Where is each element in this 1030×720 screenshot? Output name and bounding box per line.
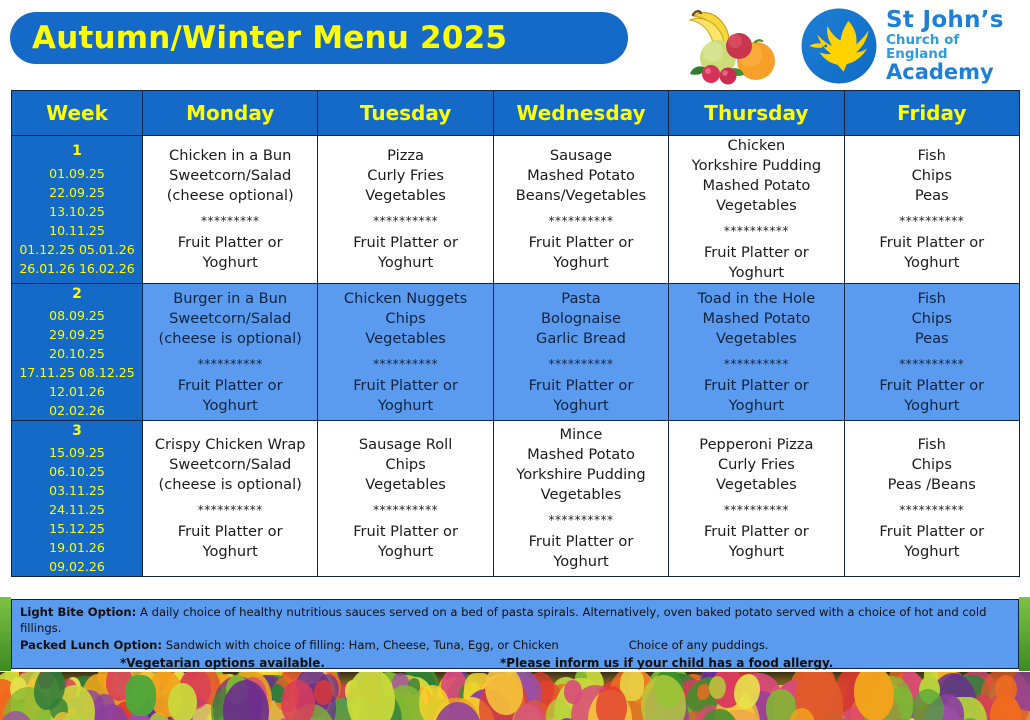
meal-cell: PastaBolognaiseGarlic Bread**********Fru… xyxy=(493,283,668,420)
dish-line: Chicken xyxy=(669,136,843,156)
week-date: 13.10.25 xyxy=(12,202,142,221)
dessert-line: Fruit Platter or xyxy=(494,233,668,253)
week-date: 06.10.25 xyxy=(12,462,142,481)
week-date: 01.12.25 05.01.26 xyxy=(12,240,142,259)
week-number: 1 xyxy=(12,141,142,162)
dish-line: Yorkshire Pudding xyxy=(669,156,843,176)
week-date: 10.11.25 xyxy=(12,221,142,240)
week-cell: 315.09.2506.10.2503.11.2524.11.2515.12.2… xyxy=(12,421,143,577)
separator-stars: ********** xyxy=(669,504,843,516)
fruit-vegetable-border-image xyxy=(0,672,1030,720)
dessert-line: Fruit Platter or xyxy=(669,522,843,542)
dish-line: Vegetables xyxy=(318,475,492,495)
packed-lunch-note: Packed Lunch Option: Sandwich with choic… xyxy=(20,637,1010,653)
dish-line: Chicken Nuggets xyxy=(318,289,492,309)
week-number: 3 xyxy=(12,421,142,442)
dessert-line: Fruit Platter or xyxy=(845,522,1019,542)
dish-line: Vegetables xyxy=(669,196,843,216)
meal-cell: Toad in the HoleMashed PotatoVegetables*… xyxy=(669,283,844,420)
puddings-text: Choice of any puddings. xyxy=(629,638,769,652)
fruit-basket-icon xyxy=(676,6,786,86)
packed-lunch-label: Packed Lunch Option: xyxy=(20,638,162,652)
week-date: 19.01.26 xyxy=(12,538,142,557)
dessert-line: Yoghurt xyxy=(669,263,843,283)
dish-line: Beans/Vegetables xyxy=(494,186,668,206)
week-date: 22.09.25 xyxy=(12,183,142,202)
week-date: 08.09.25 xyxy=(12,306,142,325)
dish-line: Sausage Roll xyxy=(318,435,492,455)
dish-line: Vegetables xyxy=(669,329,843,349)
meal-cell: SausageMashed PotatoBeans/Vegetables****… xyxy=(493,136,668,284)
week-cell: 208.09.2529.09.2520.10.2517.11.25 08.12.… xyxy=(12,283,143,420)
meal-cell: ChickenYorkshire PuddingMashed PotatoVeg… xyxy=(669,136,844,284)
week-date: 26.01.26 16.02.26 xyxy=(12,259,142,278)
column-header-tuesday: Tuesday xyxy=(318,91,493,136)
dessert-line: Yoghurt xyxy=(845,253,1019,273)
dish-line: Chips xyxy=(845,309,1019,329)
separator-stars: ********** xyxy=(845,358,1019,370)
vegetarian-note: *Vegetarian options available. xyxy=(120,655,325,672)
meal-cell: MinceMashed PotatoYorkshire PuddingVeget… xyxy=(493,421,668,577)
dish-line: Chips xyxy=(318,455,492,475)
right-decor-strip xyxy=(1019,597,1030,671)
week-date: 15.12.25 xyxy=(12,519,142,538)
eagle-badge-icon xyxy=(800,7,878,85)
dessert-line: Yoghurt xyxy=(143,396,317,416)
dessert-line: Yoghurt xyxy=(143,253,317,273)
table-header-row: Week Monday Tuesday Wednesday Thursday F… xyxy=(12,91,1020,136)
separator-stars: ********** xyxy=(845,504,1019,516)
week-date: 29.09.25 xyxy=(12,325,142,344)
meal-cell: Pepperoni PizzaCurly FriesVegetables****… xyxy=(669,421,844,577)
dish-line: Mashed Potato xyxy=(494,445,668,465)
dish-line: Fish xyxy=(845,289,1019,309)
separator-stars: ********** xyxy=(669,225,843,237)
dessert-line: Fruit Platter or xyxy=(494,532,668,552)
dessert-line: Fruit Platter or xyxy=(143,522,317,542)
meal-cell: Burger in a BunSweetcorn/Salad(cheese is… xyxy=(143,283,318,420)
week-date: 20.10.25 xyxy=(12,344,142,363)
packed-lunch-text: Sandwich with choice of filling: Ham, Ch… xyxy=(162,638,559,652)
dessert-line: Yoghurt xyxy=(494,396,668,416)
separator-stars: ********** xyxy=(318,215,492,227)
week-date: 12.01.26 xyxy=(12,382,142,401)
dessert-line: Fruit Platter or xyxy=(845,233,1019,253)
dish-line: Fish xyxy=(845,435,1019,455)
column-header-wednesday: Wednesday xyxy=(493,91,668,136)
separator-stars: ********** xyxy=(669,358,843,370)
dessert-line: Yoghurt xyxy=(318,542,492,562)
dessert-line: Fruit Platter or xyxy=(494,376,668,396)
dish-line: Mince xyxy=(494,425,668,445)
dish-line: Mashed Potato xyxy=(669,309,843,329)
dish-line: Vegetables xyxy=(318,186,492,206)
allergy-note: *Please inform us if your child has a fo… xyxy=(500,655,833,672)
light-bite-label: Light Bite Option: xyxy=(20,605,136,619)
dessert-line: Yoghurt xyxy=(318,253,492,273)
dessert-line: Fruit Platter or xyxy=(318,376,492,396)
separator-stars: ********** xyxy=(318,504,492,516)
dish-line: Chips xyxy=(845,166,1019,186)
dish-line: Pepperoni Pizza xyxy=(669,435,843,455)
school-name-line-3: Academy xyxy=(886,61,1025,83)
dish-line: (cheese is optional) xyxy=(143,475,317,495)
dessert-line: Fruit Platter or xyxy=(845,376,1019,396)
dish-line: Bolognaise xyxy=(494,309,668,329)
week-date: 02.02.26 xyxy=(12,401,142,420)
dessert-line: Yoghurt xyxy=(669,396,843,416)
dish-line: Toad in the Hole xyxy=(669,289,843,309)
separator-stars: ********** xyxy=(494,358,668,370)
separator-stars: ********* xyxy=(143,215,317,227)
separator-stars: ********** xyxy=(494,514,668,526)
dish-line: Sweetcorn/Salad xyxy=(143,455,317,475)
week-date: 09.02.26 xyxy=(12,557,142,576)
school-logo: St John’s Church of England Academy xyxy=(800,5,1025,87)
dessert-line: Fruit Platter or xyxy=(318,233,492,253)
school-name: St John’s Church of England Academy xyxy=(886,8,1025,83)
week-date: 15.09.25 xyxy=(12,443,142,462)
meal-cell: FishChipsPeas**********Fruit Platter orY… xyxy=(844,283,1019,420)
dish-line: Sausage xyxy=(494,146,668,166)
dish-line: Sweetcorn/Salad xyxy=(143,166,317,186)
separator-stars: ********** xyxy=(318,358,492,370)
school-name-line-2: Church of England xyxy=(886,33,1025,62)
dish-line: Vegetables xyxy=(318,329,492,349)
dish-line: Pizza xyxy=(318,146,492,166)
dish-line: Curly Fries xyxy=(318,166,492,186)
dish-line: Mashed Potato xyxy=(669,176,843,196)
note-highlights: *Vegetarian options available. *Please i… xyxy=(20,653,1010,672)
dessert-line: Fruit Platter or xyxy=(143,376,317,396)
light-bite-note: Light Bite Option: A daily choice of hea… xyxy=(20,604,1010,637)
meal-cell: PizzaCurly FriesVegetables**********Frui… xyxy=(318,136,493,284)
separator-stars: ********** xyxy=(845,215,1019,227)
dish-line: Garlic Bread xyxy=(494,329,668,349)
dish-line: Peas /Beans xyxy=(845,475,1019,495)
dessert-line: Yoghurt xyxy=(143,542,317,562)
week-cell: 101.09.2522.09.2513.10.2510.11.2501.12.2… xyxy=(12,136,143,284)
dish-line: Chips xyxy=(845,455,1019,475)
dish-line: (cheese optional) xyxy=(143,186,317,206)
menu-table: Week Monday Tuesday Wednesday Thursday F… xyxy=(11,90,1020,577)
left-decor-strip xyxy=(0,597,11,671)
table-row: 315.09.2506.10.2503.11.2524.11.2515.12.2… xyxy=(12,421,1020,577)
dish-line: Peas xyxy=(845,329,1019,349)
light-bite-text: A daily choice of healthy nutritious sau… xyxy=(20,605,986,635)
dish-line: Vegetables xyxy=(669,475,843,495)
dessert-line: Fruit Platter or xyxy=(143,233,317,253)
dessert-line: Fruit Platter or xyxy=(669,376,843,396)
page-title: Autumn/Winter Menu 2025 xyxy=(10,23,507,54)
meal-cell: Chicken NuggetsChipsVegetables**********… xyxy=(318,283,493,420)
separator-stars: ********** xyxy=(143,358,317,370)
column-header-monday: Monday xyxy=(143,91,318,136)
page-header: Autumn/Winter Menu 2025 xyxy=(0,0,1030,88)
dish-line: Sweetcorn/Salad xyxy=(143,309,317,329)
dish-line: Chips xyxy=(318,309,492,329)
separator-stars: ********** xyxy=(494,215,668,227)
week-date: 01.09.25 xyxy=(12,164,142,183)
menu-notes: Light Bite Option: A daily choice of hea… xyxy=(11,599,1019,669)
dish-line: Mashed Potato xyxy=(494,166,668,186)
column-header-friday: Friday xyxy=(844,91,1019,136)
meal-cell: FishChipsPeas**********Fruit Platter orY… xyxy=(844,136,1019,284)
dish-line: Curly Fries xyxy=(669,455,843,475)
column-header-week: Week xyxy=(12,91,143,136)
meal-cell: Sausage RollChipsVegetables**********Fru… xyxy=(318,421,493,577)
week-date: 24.11.25 xyxy=(12,500,142,519)
table-row: 101.09.2522.09.2513.10.2510.11.2501.12.2… xyxy=(12,136,1020,284)
title-banner: Autumn/Winter Menu 2025 xyxy=(10,12,628,64)
dish-line: Yorkshire Pudding xyxy=(494,465,668,485)
dessert-line: Yoghurt xyxy=(318,396,492,416)
dish-line: Chicken in a Bun xyxy=(143,146,317,166)
table-row: 208.09.2529.09.2520.10.2517.11.25 08.12.… xyxy=(12,283,1020,420)
dessert-line: Yoghurt xyxy=(669,542,843,562)
dish-line: (cheese is optional) xyxy=(143,329,317,349)
column-header-thursday: Thursday xyxy=(669,91,844,136)
week-date: 03.11.25 xyxy=(12,481,142,500)
week-date: 17.11.25 08.12.25 xyxy=(12,363,142,382)
week-number: 2 xyxy=(12,284,142,305)
dish-line: Vegetables xyxy=(494,485,668,505)
meal-cell: Crispy Chicken WrapSweetcorn/Salad(chees… xyxy=(143,421,318,577)
dessert-line: Yoghurt xyxy=(845,542,1019,562)
meal-cell: FishChipsPeas /Beans**********Fruit Plat… xyxy=(844,421,1019,577)
dessert-line: Yoghurt xyxy=(494,253,668,273)
dish-line: Crispy Chicken Wrap xyxy=(143,435,317,455)
meal-cell: Chicken in a BunSweetcorn/Salad(cheese o… xyxy=(143,136,318,284)
school-name-line-1: St John’s xyxy=(886,8,1025,32)
dish-line: Burger in a Bun xyxy=(143,289,317,309)
dish-line: Fish xyxy=(845,146,1019,166)
dessert-line: Yoghurt xyxy=(845,396,1019,416)
dish-line: Pasta xyxy=(494,289,668,309)
dessert-line: Fruit Platter or xyxy=(669,243,843,263)
dessert-line: Fruit Platter or xyxy=(318,522,492,542)
dish-line: Peas xyxy=(845,186,1019,206)
dessert-line: Yoghurt xyxy=(494,552,668,572)
separator-stars: ********** xyxy=(143,504,317,516)
